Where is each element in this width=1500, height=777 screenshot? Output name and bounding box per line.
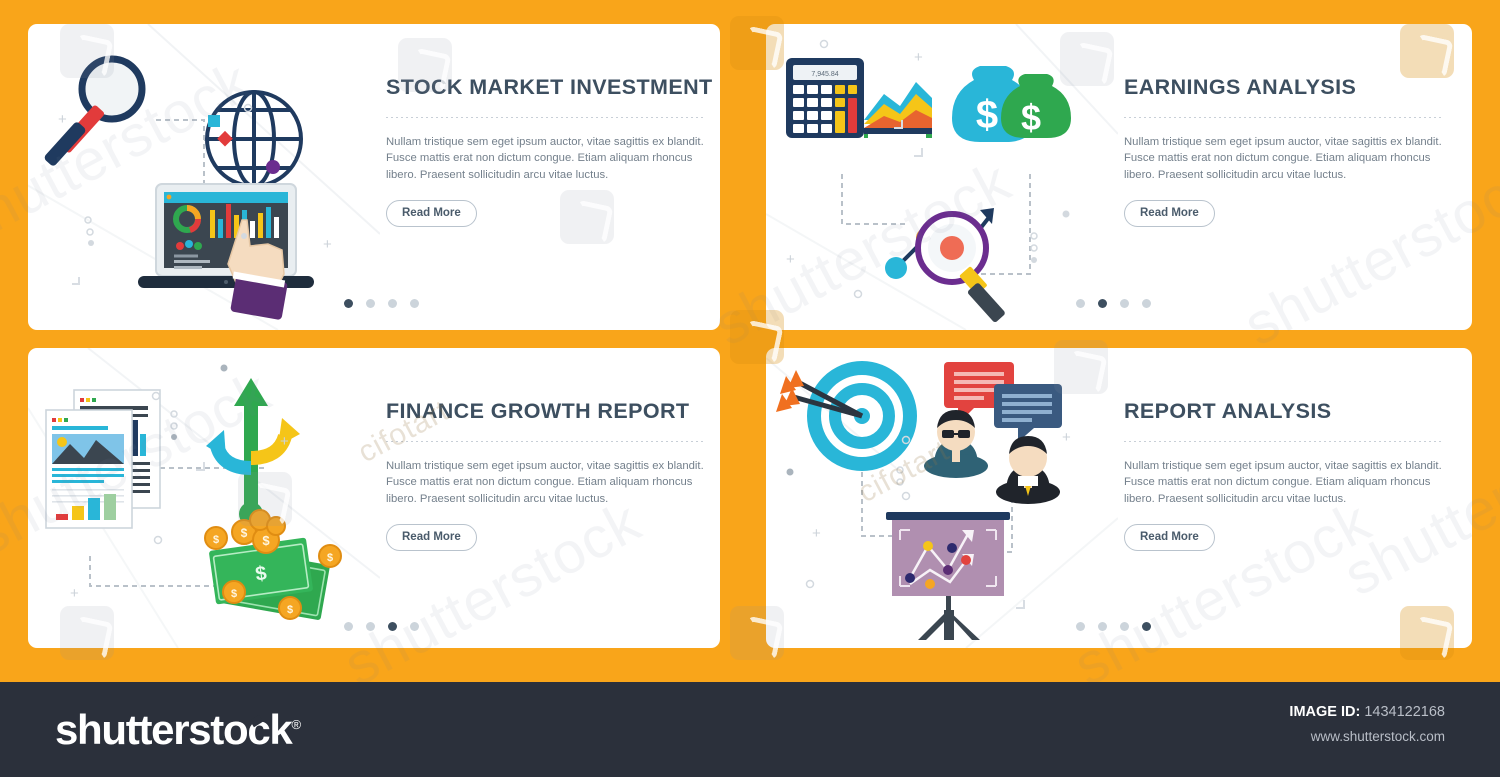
svg-text:+: + [914, 49, 923, 66]
pagination-dot-4[interactable] [1142, 622, 1151, 631]
shutterstock-logo: shutterstock® [55, 706, 301, 754]
pagination-dot-1[interactable] [344, 299, 353, 308]
pagination-dot-1[interactable] [1076, 622, 1085, 631]
panel-title-3: FINANCE GROWTH REPORT [386, 400, 704, 424]
logo-text-post: k [269, 706, 291, 753]
svg-text:+: + [70, 585, 79, 602]
svg-text:$: $ [287, 604, 293, 616]
pagination-dots-2[interactable] [1076, 299, 1151, 308]
banner-panel-finance-growth-report[interactable]: $ $ $ $ $ [28, 348, 720, 648]
panel-title-2: EARNINGS ANALYSIS [1124, 76, 1442, 100]
pagination-dot-4[interactable] [410, 299, 419, 308]
footer-url: www.shutterstock.com [1289, 729, 1445, 744]
title-divider-1 [386, 117, 704, 118]
banner-panel-report-analysis[interactable]: + + REPORT ANALYSIS Nullam tristique sem… [766, 348, 1472, 648]
pagination-dots-3[interactable] [344, 622, 419, 631]
read-more-button-3[interactable]: Read More [386, 524, 477, 551]
pagination-dot-3[interactable] [1120, 622, 1129, 631]
title-divider-3 [386, 441, 704, 442]
svg-text:$: $ [241, 526, 248, 540]
panel-copy-3: FINANCE GROWTH REPORT Nullam tristique s… [386, 400, 704, 551]
footer-meta: IMAGE ID: 1434122168 www.shutterstock.co… [1289, 704, 1445, 744]
illustration-stock-market-investment: + + [28, 24, 380, 330]
panel-title-4: REPORT ANALYSIS [1124, 400, 1442, 424]
footer-bar: shutterstock® IMAGE ID: 1434122168 www.s… [0, 682, 1500, 777]
panel-body-3: Nullam tristique sem eget ipsum auctor, … [386, 458, 704, 508]
pagination-dot-4[interactable] [1142, 299, 1151, 308]
banner-panel-stock-market-investment[interactable]: + + STOCK MARKET INVESTMENT Nullam trist… [28, 24, 720, 330]
pagination-dot-2[interactable] [1098, 299, 1107, 308]
svg-text:$: $ [327, 552, 333, 564]
pagination-dot-2[interactable] [1098, 622, 1107, 631]
panel-body-1: Nullam tristique sem eget ipsum auctor, … [386, 134, 704, 184]
pagination-dot-4[interactable] [410, 622, 419, 631]
logo-text-pre: shuttersto [55, 706, 247, 753]
illustration-earnings-analysis: 7,945.84 [766, 24, 1118, 330]
svg-text:+: + [280, 433, 289, 450]
pagination-dot-2[interactable] [366, 622, 375, 631]
svg-text:$: $ [262, 533, 270, 548]
panel-body-2: Nullam tristique sem eget ipsum auctor, … [1124, 134, 1442, 184]
illustration-report-analysis: + + [766, 348, 1118, 648]
calculator-display-value: 7,945.84 [811, 71, 838, 78]
read-more-button-2[interactable]: Read More [1124, 200, 1215, 227]
registered-mark: ® [291, 717, 301, 732]
svg-text:+: + [58, 111, 67, 128]
svg-text:$: $ [213, 534, 219, 546]
screenshot-root: + + STOCK MARKET INVESTMENT Nullam trist… [0, 0, 1500, 777]
svg-text:$: $ [1021, 97, 1041, 138]
pagination-dot-3[interactable] [388, 299, 397, 308]
pagination-dot-2[interactable] [366, 299, 375, 308]
svg-text:+: + [786, 251, 795, 268]
panel-copy-4: REPORT ANALYSIS Nullam tristique sem ege… [1124, 400, 1442, 551]
pagination-dots-4[interactable] [1076, 622, 1151, 631]
illustration-finance-growth-report: $ $ $ $ $ [28, 348, 380, 648]
panel-title-1: STOCK MARKET INVESTMENT [386, 76, 704, 100]
pagination-dots-1[interactable] [344, 299, 419, 308]
svg-text:+: + [323, 236, 332, 253]
pagination-dot-1[interactable] [1076, 299, 1085, 308]
read-more-button-1[interactable]: Read More [386, 200, 477, 227]
svg-text:$: $ [231, 588, 237, 600]
panel-copy-1: STOCK MARKET INVESTMENT Nullam tristique… [386, 76, 704, 227]
title-divider-2 [1124, 117, 1442, 118]
panel-copy-2: EARNINGS ANALYSIS Nullam tristique sem e… [1124, 76, 1442, 227]
pagination-dot-1[interactable] [344, 622, 353, 631]
image-id-value: 1434122168 [1364, 704, 1445, 720]
logo-text-cut: c [247, 706, 269, 754]
pagination-dot-3[interactable] [1120, 299, 1129, 308]
banner-panel-earnings-analysis[interactable]: 7,945.84 [766, 24, 1472, 330]
read-more-button-4[interactable]: Read More [1124, 524, 1215, 551]
svg-text:+: + [1062, 429, 1071, 446]
panel-body-4: Nullam tristique sem eget ipsum auctor, … [1124, 458, 1442, 508]
svg-text:$: $ [976, 93, 998, 137]
svg-text:+: + [812, 525, 821, 542]
title-divider-4 [1124, 441, 1442, 442]
pagination-dot-3[interactable] [388, 622, 397, 631]
image-id-line: IMAGE ID: 1434122168 [1289, 704, 1445, 720]
image-id-label: IMAGE ID: [1289, 704, 1360, 720]
